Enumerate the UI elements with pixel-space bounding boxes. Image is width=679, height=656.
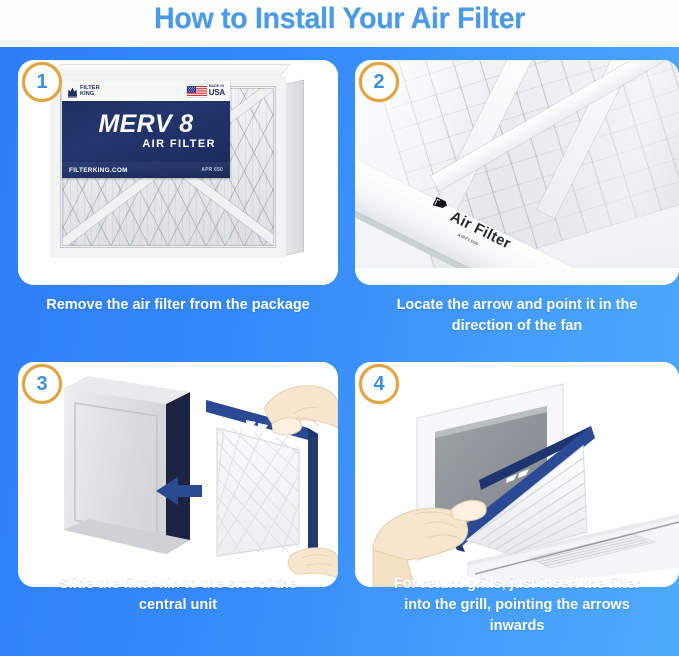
made-in-usa-mark: MADE IN USA: [187, 85, 225, 97]
step-card-4: 4: [355, 362, 679, 587]
boxed-filter-photo: FILTER KING: [18, 60, 338, 285]
step-number-badge-3: 3: [22, 364, 62, 404]
slide-filter-svg: [18, 362, 338, 587]
label-footer-strip: FILTERKING.COM APR 650: [62, 162, 230, 178]
step-4-image-card: [355, 362, 679, 587]
step-3-caption-line-1: Slide the filter kin to the slot of the: [18, 574, 338, 595]
brand-logo: FILTER KING: [67, 85, 100, 97]
steps-board: FILTER KING: [0, 47, 679, 656]
header-bar: How to Install Your Air Filter: [0, 0, 679, 47]
step-4-caption-line-3: inwards: [355, 616, 679, 637]
step-number-badge-2: 2: [359, 62, 399, 102]
usa-text: USA: [209, 89, 225, 97]
return-grill-illustration: [355, 362, 679, 587]
step-number-3: 3: [25, 367, 59, 401]
step-2-caption-line-1: Locate the arrow and point it in the: [355, 295, 679, 316]
made-in-usa-text: MADE IN USA: [209, 85, 225, 96]
step-2-image-card: Air Filter AIRFLOW: [355, 60, 679, 285]
step-card-1: FILTER KING: [18, 60, 338, 285]
website-url: FILTERKING.COM: [69, 167, 128, 174]
air-filter-product: FILTER KING: [46, 74, 290, 260]
step-number-badge-1: 1: [22, 62, 62, 102]
central-unit-housing: [64, 376, 190, 554]
infographic-root: How to Install Your Air Filter: [0, 0, 679, 656]
filter-corner-scene: Air Filter AIRFLOW: [355, 60, 679, 268]
step-caption-4: For return grills, just insert the filte…: [355, 574, 679, 637]
step-number-1: 1: [25, 65, 59, 99]
hand-holding-filter: [264, 386, 338, 435]
step-number-2: 2: [362, 65, 396, 99]
step-card-2: Air Filter AIRFLOW 2: [355, 60, 679, 285]
step-4-caption-line-1: For return grills, just insert the filte…: [355, 574, 679, 595]
slide-filter-illustration: [18, 362, 338, 587]
step-caption-3: Slide the filter kin to the slot of the …: [18, 574, 338, 616]
product-type-text: AIR FILTER: [62, 138, 230, 150]
steps-grid: FILTER KING: [0, 47, 679, 656]
step-card-3: 3: [18, 362, 338, 587]
step-3-image-card: [18, 362, 338, 587]
brand-line-2: KING: [80, 91, 100, 97]
step-number-4: 4: [362, 367, 396, 401]
step-1-image-card: FILTER KING: [18, 60, 338, 285]
filter-king-crown-icon: [67, 85, 78, 97]
step-1-caption-text: Remove the air filter from the package: [46, 297, 310, 313]
step-caption-2: Locate the arrow and point it in the dir…: [355, 295, 679, 337]
filter-corner-photo: Air Filter AIRFLOW: [355, 60, 679, 285]
brand-text: FILTER KING: [80, 85, 100, 97]
us-flag-icon: [187, 85, 207, 97]
apr-code: APR 650: [201, 167, 223, 173]
product-label: FILTER KING: [62, 81, 230, 178]
step-caption-1: Remove the air filter from the package: [18, 295, 338, 316]
merv-rating: MERV 8: [62, 111, 230, 137]
label-header-strip: FILTER KING: [62, 81, 230, 101]
step-number-badge-4: 4: [359, 364, 399, 404]
return-grill-svg: [355, 362, 679, 587]
step-2-caption-line-2: direction of the fan: [355, 316, 679, 337]
step-4-caption-line-2: into the grill, pointing the arrows: [355, 595, 679, 616]
step-3-caption-line-2: central unit: [18, 595, 338, 616]
page-title: How to Install Your Air Filter: [17, 2, 662, 36]
